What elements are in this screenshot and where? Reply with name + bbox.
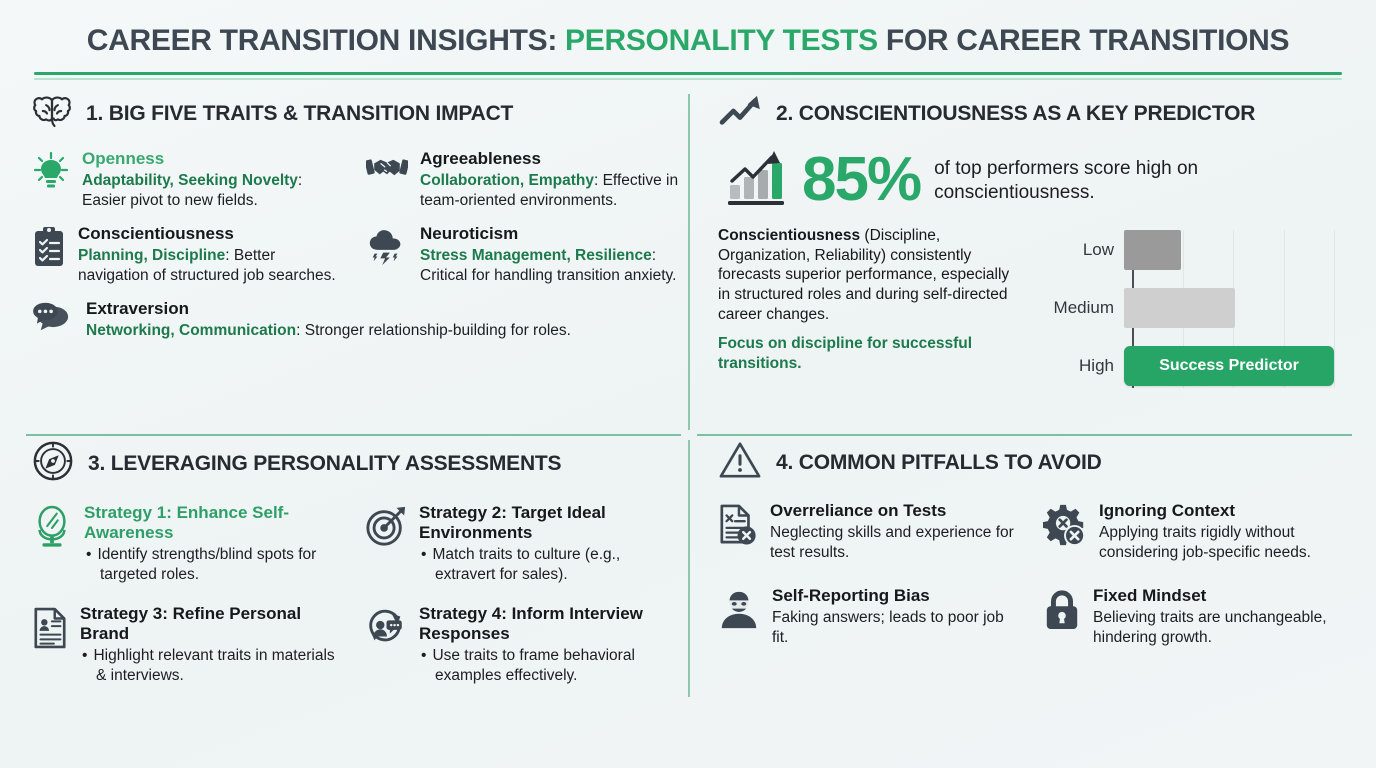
pitfall-fixed-mindset: Fixed Mindset Believing traits are uncha… [1043, 586, 1348, 647]
target-icon [365, 505, 407, 552]
chart-row-high: High Success Predictor [1024, 344, 1334, 388]
growth-chart-icon [726, 149, 788, 212]
section-2-paragraph-block: Conscientiousness (Discipline, Organizat… [718, 226, 1010, 373]
strategy-4: Strategy 4: Inform Interview Responses U… [365, 604, 682, 685]
trait-openness: Openness Adaptability, Seeking Novelty: … [32, 149, 348, 210]
section-4-header: 4. COMMON PITFALLS TO AVOID [718, 440, 1348, 485]
strategy-2: Strategy 2: Target Ideal Environments Ma… [365, 503, 682, 584]
pitfall-desc: Applying traits rigidly without consider… [1099, 523, 1348, 562]
section-2-header: 2. CONSCIENTIOUSNESS AS A KEY PREDICTOR [718, 94, 1348, 133]
section-1-header: 1. BIG FIVE TRAITS & TRANSITION IMPACT [32, 94, 682, 133]
trait-keywords: Adaptability, Seeking Novelty [82, 172, 298, 189]
strategy-bullet: Use traits to frame behavioral examples … [419, 646, 682, 685]
chart-bar-data-label: Success Predictor [1159, 357, 1299, 375]
section-2-title: 2. CONSCIENTIOUSNESS AS A KEY PREDICTOR [776, 102, 1255, 126]
pitfall-desc: Faking answers; leads to poor job fit. [772, 608, 1023, 647]
trend-arrow-icon [718, 94, 762, 133]
paragraph-lead: Conscientiousness [718, 227, 860, 244]
strategy-1: Strategy 1: Enhance Self-Awareness Ident… [32, 503, 349, 584]
trait-name: Agreeableness [420, 149, 682, 169]
pitfall-title: Ignoring Context [1099, 501, 1348, 521]
trait-name: Conscientiousness [78, 224, 348, 244]
trait-keywords: Planning, Discipline [78, 247, 225, 264]
lightbulb-icon [32, 151, 70, 196]
strategy-bullet: Match traits to culture (e.g., extravert… [419, 545, 682, 584]
handshake-icon [366, 151, 408, 190]
section-3-title: 3. LEVERAGING PERSONALITY ASSESSMENTS [88, 452, 561, 476]
trait-keywords: Networking, Communication [86, 322, 296, 339]
pitfall-desc: Neglecting skills and experience for tes… [770, 523, 1023, 562]
strategy-3: Strategy 3: Refine Personal Brand Highli… [32, 604, 349, 685]
trait-keywords: Stress Management, Resilience [420, 247, 652, 264]
conscientiousness-bar-chart: Low Medium High [1024, 226, 1348, 394]
vertical-divider-top [686, 92, 692, 432]
stat-caption: of top performers score high on conscien… [934, 157, 1348, 203]
trait-desc: : Stronger relationship-building for rol… [296, 322, 571, 339]
chart-bar-medium [1124, 288, 1235, 328]
trait-name: Neuroticism [420, 224, 682, 244]
page-title: CAREER TRANSITION INSIGHTS: PERSONALITY … [26, 18, 1350, 80]
chart-bar-low [1124, 230, 1181, 270]
masked-person-icon [718, 588, 760, 635]
trait-neuroticism: Neuroticism Stress Management, Resilienc… [366, 224, 682, 285]
title-divider [34, 72, 1342, 75]
compass-icon [32, 440, 74, 487]
strategy-title: Strategy 4: Inform Interview Responses [419, 604, 682, 644]
trait-extraversion: Extraversion Networking, Communication: … [32, 299, 682, 341]
person-refresh-icon [365, 606, 407, 653]
padlock-icon [1043, 588, 1081, 637]
pitfall-self-reporting-bias: Self-Reporting Bias Faking answers; lead… [718, 586, 1023, 647]
section-1-big-five: 1. BIG FIVE TRAITS & TRANSITION IMPACT [26, 92, 686, 432]
chart-bar-high: Success Predictor [1124, 346, 1334, 386]
section-4-pitfall-list: Overreliance on Tests Neglecting skills … [718, 501, 1348, 661]
infographic-page: CAREER TRANSITION INSIGHTS: PERSONALITY … [0, 0, 1376, 768]
section-2-body: Conscientiousness (Discipline, Organizat… [718, 226, 1348, 394]
pitfall-ignoring-context: Ignoring Context Applying traits rigidly… [1043, 501, 1348, 562]
strategy-title: Strategy 3: Refine Personal Brand [80, 604, 349, 644]
document-x-icon [718, 503, 758, 552]
mirror-icon [32, 505, 72, 554]
pitfall-overreliance-on-tests: Overreliance on Tests Neglecting skills … [718, 501, 1023, 562]
title-highlight: PERSONALITY TESTS [565, 24, 878, 57]
pitfall-title: Self-Reporting Bias [772, 586, 1023, 606]
section-1-title: 1. BIG FIVE TRAITS & TRANSITION IMPACT [86, 102, 513, 126]
section-3-leveraging: 3. LEVERAGING PERSONALITY ASSESSMENTS [26, 438, 686, 699]
stat-highlight: 85% of top performers score high on cons… [726, 149, 1348, 212]
trait-name: Openness [82, 149, 348, 169]
title-part-2: FOR CAREER TRANSITIONS [878, 24, 1289, 57]
pitfall-title: Overreliance on Tests [770, 501, 1023, 521]
strategy-title: Strategy 1: Enhance Self-Awareness [84, 503, 349, 543]
gear-x-icon [1043, 503, 1087, 552]
trait-agreeableness: Agreeableness Collaboration, Empathy: Ef… [366, 149, 682, 210]
section-1-traits: Openness Adaptability, Seeking Novelty: … [32, 149, 682, 355]
strategy-title: Strategy 2: Target Ideal Environments [419, 503, 682, 543]
chart-category-label: Low [1024, 240, 1124, 260]
title-divider-soft [34, 78, 1342, 80]
chart-category-label: High [1024, 356, 1124, 376]
speech-bubbles-icon [32, 301, 74, 340]
sections-grid: 1. BIG FIVE TRAITS & TRANSITION IMPACT [26, 92, 1350, 699]
chart-row-low: Low [1024, 228, 1334, 272]
strategy-bullet: Highlight relevant traits in materials &… [80, 646, 349, 685]
section-4-pitfalls: 4. COMMON PITFALLS TO AVOID [692, 438, 1352, 699]
trait-conscientiousness: Conscientiousness Planning, Discipline: … [32, 224, 348, 285]
stat-value: 85% [802, 151, 920, 210]
chart-category-label: Medium [1024, 298, 1124, 318]
section-2-conscientiousness: 2. CONSCIENTIOUSNESS AS A KEY PREDICTOR [692, 92, 1352, 432]
storm-cloud-icon [366, 226, 408, 271]
section-2-note: Focus on discipline for successful trans… [718, 334, 1010, 373]
strategy-bullet: Identify strengths/blind spots for targe… [84, 545, 349, 584]
trait-keywords: Collaboration, Empathy [420, 172, 594, 189]
pitfall-title: Fixed Mindset [1093, 586, 1348, 606]
clipboard-check-icon [32, 226, 66, 273]
vertical-divider-bottom [686, 438, 692, 699]
resume-icon [32, 606, 68, 655]
trait-name: Extraversion [86, 299, 682, 319]
chart-row-medium: Medium [1024, 286, 1334, 330]
section-3-strategies: Strategy 1: Enhance Self-Awareness Ident… [32, 503, 682, 699]
brain-icon [32, 94, 72, 133]
title-part-1: CAREER TRANSITION INSIGHTS: [87, 24, 565, 57]
warning-triangle-icon [718, 440, 762, 485]
section-4-title: 4. COMMON PITFALLS TO AVOID [776, 451, 1102, 475]
section-3-header: 3. LEVERAGING PERSONALITY ASSESSMENTS [32, 440, 682, 487]
pitfall-desc: Believing traits are unchangeable, hinde… [1093, 608, 1348, 647]
